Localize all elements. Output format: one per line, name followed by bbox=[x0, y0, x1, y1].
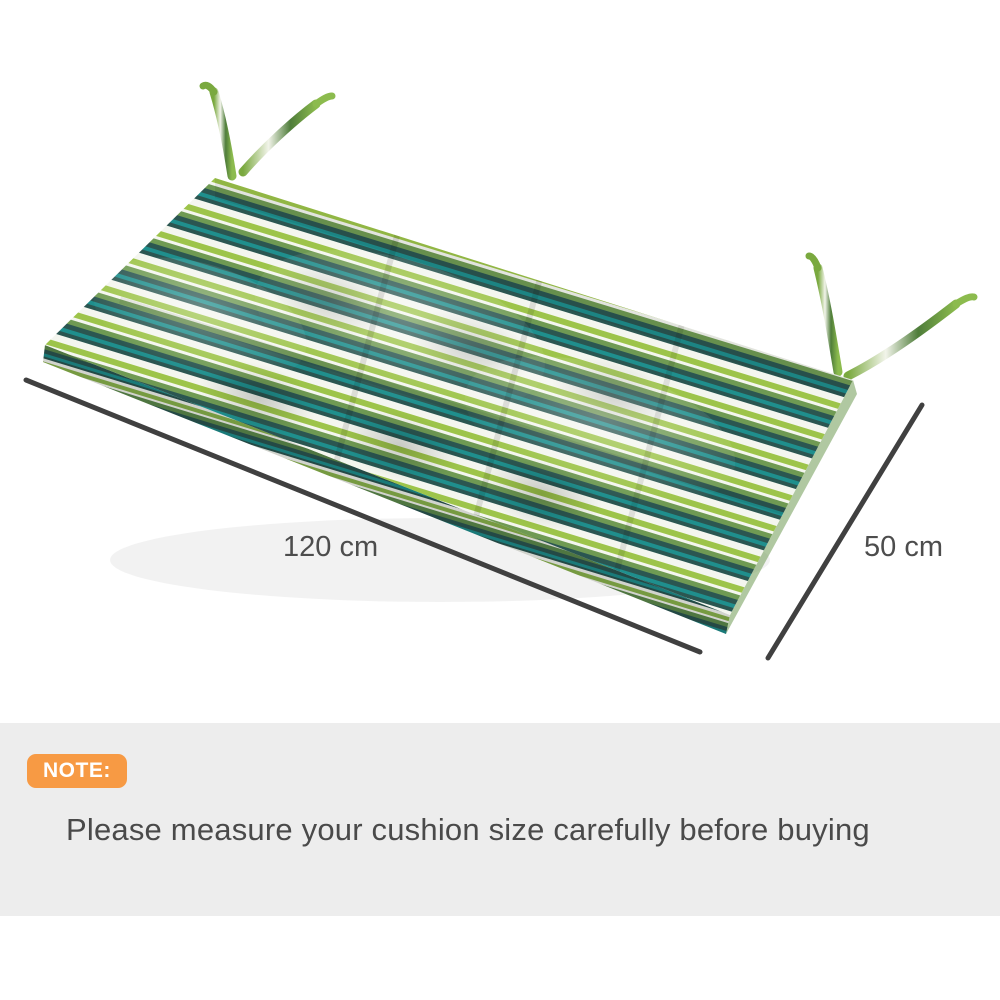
cushion-top-face bbox=[0, 0, 1000, 723]
cushion-tie-right-lower bbox=[848, 297, 974, 376]
product-photo-area: 120 cm 50 cm bbox=[0, 0, 1000, 723]
cushion-illustration bbox=[0, 0, 1000, 723]
cushion-tie-top-right bbox=[243, 96, 332, 172]
cushion-tie-right-upper bbox=[809, 256, 838, 372]
width-dimension-label: 50 cm bbox=[864, 531, 943, 564]
note-message: Please measure your cushion size careful… bbox=[66, 812, 870, 848]
length-dimension-label: 120 cm bbox=[283, 531, 378, 564]
cushion-tie-top-left bbox=[203, 85, 232, 176]
note-badge: NOTE: bbox=[27, 754, 127, 788]
product-diagram-page: 120 cm 50 cm NOTE: Please measure your c… bbox=[0, 0, 1000, 1000]
